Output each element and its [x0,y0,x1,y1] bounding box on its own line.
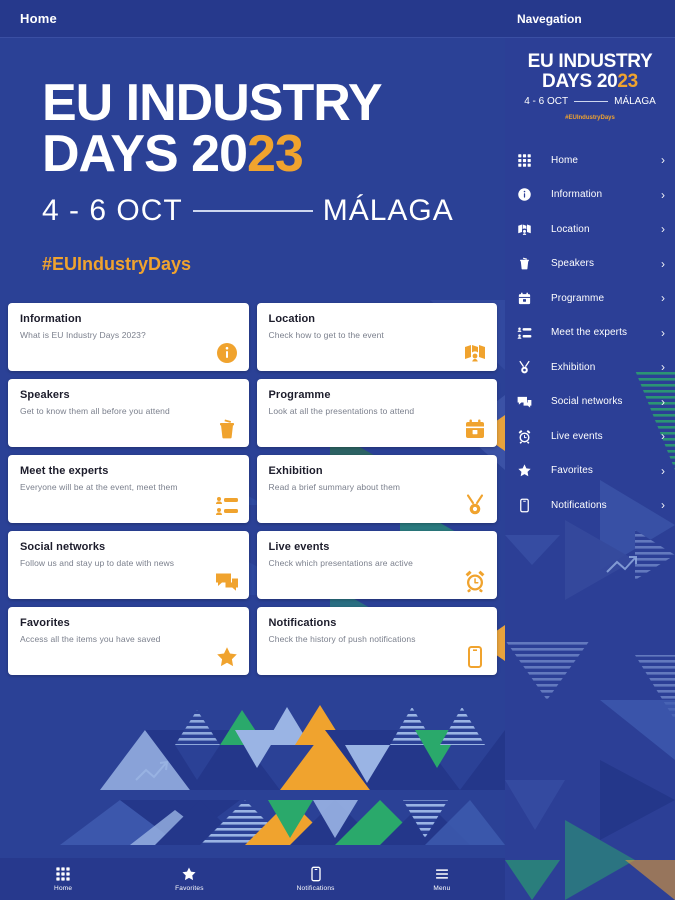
card-title: Exhibition [269,465,486,477]
sidebar-item-live-events[interactable]: Live events › [505,419,675,454]
nav-logo-subline: 4 - 6 OCT MÁLAGA [505,96,675,107]
sidebar-item-notifications[interactable]: Notifications › [505,488,675,523]
hero-title-year-accent: 23 [247,125,303,183]
nav-item-list: Home › Information › Location › [505,143,675,523]
card-information[interactable]: Information What is EU Industry Days 202… [8,303,249,371]
sidebar-item-label: Live events [551,431,661,442]
map-location-icon [517,222,537,237]
hero-city: MÁLAGA [323,194,454,228]
card-description: Check the history of push notifications [269,634,486,644]
card-description: What is EU Industry Days 2023? [20,330,237,340]
sidebar-item-label: Information [551,189,661,200]
sidebar-item-label: Speakers [551,258,661,269]
page-title: Home [20,11,57,26]
nav-logo-line2: DAYS 20 [542,71,617,92]
app-root: Home EU INDUSTRY DAYS 2023 4 - 6 OCT MÁL… [0,0,675,900]
calendar-icon [461,415,487,441]
sidebar-item-label: Social networks [551,396,661,407]
card-exhibition[interactable]: Exhibition Read a brief summary about th… [257,455,498,523]
card-title: Live events [269,541,486,553]
hero-title-line2: DAYS 20 [42,125,247,183]
hero-banner: EU INDUSTRY DAYS 2023 4 - 6 OCT MÁLAGA #… [0,38,505,275]
card-description: Follow us and stay up to date with news [20,558,237,568]
mobile-phone-icon [308,866,324,882]
card-speakers[interactable]: Speakers Get to know them all before you… [8,379,249,447]
experts-list-icon [213,491,239,517]
card-favorites[interactable]: Favorites Access all the items you have … [8,607,249,675]
sidebar-item-label: Meet the experts [551,327,661,338]
hamburger-icon [434,866,450,882]
sidebar-item-home[interactable]: Home › [505,143,675,178]
card-programme[interactable]: Programme Look at all the presentations … [257,379,498,447]
calendar-icon [517,291,537,306]
tab-menu[interactable]: Menu [379,866,505,892]
sidebar-item-favorites[interactable]: Favorites › [505,453,675,488]
sidebar-item-label: Home [551,155,661,166]
nav-logo-year-accent: 23 [617,71,638,92]
hero-title: EU INDUSTRY DAYS 2023 [42,78,505,180]
star-icon [181,866,197,882]
hero-divider-line [193,210,313,212]
grid-icon [517,153,537,168]
chevron-right-icon: › [661,395,665,409]
nav-logo-title: EU INDUSTRY DAYS 2023 [505,52,675,92]
chevron-right-icon: › [661,326,665,340]
alarm-clock-icon [517,429,537,444]
mobile-phone-icon [461,643,487,669]
main-pane: Home EU INDUSTRY DAYS 2023 4 - 6 OCT MÁL… [0,0,505,900]
card-social-networks[interactable]: Social networks Follow us and stay up to… [8,531,249,599]
tab-label: Menu [433,885,450,892]
card-description: Look at all the presentations to attend [269,406,486,416]
sidebar-item-label: Notifications [551,500,661,511]
star-icon [517,463,537,478]
tab-favorites[interactable]: Favorites [126,866,252,892]
card-description: Check which presentations are active [269,558,486,568]
sidebar-item-meet-the-experts[interactable]: Meet the experts › [505,315,675,350]
nav-logo-divider-line [574,101,608,102]
main-header: Home [0,0,505,38]
card-description: Access all the items you have saved [20,634,237,644]
chevron-right-icon: › [661,429,665,443]
hero-hashtag: #EUIndustryDays [42,254,505,275]
card-location[interactable]: Location Check how to get to the event [257,303,498,371]
sidebar-item-label: Programme [551,293,661,304]
chevron-right-icon: › [661,291,665,305]
chevron-right-icon: › [661,360,665,374]
bottom-tab-bar: Home Favorites Notifications Menu [0,858,505,900]
sidebar-item-label: Exhibition [551,362,661,373]
card-title: Notifications [269,617,486,629]
hero-subline: 4 - 6 OCT MÁLAGA [42,194,505,228]
sidebar-item-programme[interactable]: Programme › [505,281,675,316]
sidebar-item-location[interactable]: Location › [505,212,675,247]
tab-notifications[interactable]: Notifications [253,866,379,892]
nav-header: Navegation [505,0,675,38]
card-notifications[interactable]: Notifications Check the history of push … [257,607,498,675]
card-description: Everyone will be at the event, meet them [20,482,237,492]
podium-icon [517,256,537,271]
chevron-right-icon: › [661,222,665,236]
grid-icon [55,866,71,882]
shortcut-card-grid: Information What is EU Industry Days 202… [0,303,505,675]
chevron-right-icon: › [661,464,665,478]
card-title: Location [269,313,486,325]
sidebar-item-speakers[interactable]: Speakers › [505,246,675,281]
experts-list-icon [517,325,537,340]
chat-bubbles-icon [517,394,537,409]
medal-icon [517,360,537,375]
tab-label: Notifications [297,885,335,892]
info-circle-icon [517,187,537,202]
podium-icon [213,415,239,441]
nav-logo-dates: 4 - 6 OCT [524,96,568,107]
tab-label: Home [54,885,72,892]
chevron-right-icon: › [661,153,665,167]
chat-bubbles-icon [213,567,239,593]
card-description: Check how to get to the event [269,330,486,340]
sidebar-item-information[interactable]: Information › [505,177,675,212]
navigation-drawer: Navegation EU INDUSTRY DAYS 2023 4 - 6 O… [505,0,675,900]
card-title: Favorites [20,617,237,629]
chevron-right-icon: › [661,257,665,271]
card-title: Programme [269,389,486,401]
nav-logo-city: MÁLAGA [614,96,656,107]
chevron-right-icon: › [661,188,665,202]
hero-dates: 4 - 6 OCT [42,194,183,228]
card-description: Read a brief summary about them [269,482,486,492]
card-live-events[interactable]: Live events Check which presentations ar… [257,531,498,599]
card-title: Social networks [20,541,237,553]
nav-logo: EU INDUSTRY DAYS 2023 4 - 6 OCT MÁLAGA #… [505,38,675,131]
card-title: Speakers [20,389,237,401]
card-title: Information [20,313,237,325]
mobile-phone-icon [517,498,537,513]
nav-logo-hashtag: #EUIndustryDays [505,115,675,121]
sidebar-item-label: Favorites [551,465,661,476]
card-meet-the-experts[interactable]: Meet the experts Everyone will be at the… [8,455,249,523]
sidebar-item-exhibition[interactable]: Exhibition › [505,350,675,385]
medal-icon [461,491,487,517]
chevron-right-icon: › [661,498,665,512]
nav-logo-line1: EU INDUSTRY [528,51,653,72]
tab-home[interactable]: Home [0,866,126,892]
card-description: Get to know them all before you attend [20,406,237,416]
nav-title: Navegation [517,12,582,26]
info-circle-icon [213,339,239,365]
sidebar-item-label: Location [551,224,661,235]
tab-label: Favorites [175,885,204,892]
card-title: Meet the experts [20,465,237,477]
alarm-clock-icon [461,567,487,593]
star-icon [213,643,239,669]
map-location-icon [461,339,487,365]
sidebar-item-social-networks[interactable]: Social networks › [505,384,675,419]
hero-title-line1: EU INDUSTRY [42,74,382,132]
